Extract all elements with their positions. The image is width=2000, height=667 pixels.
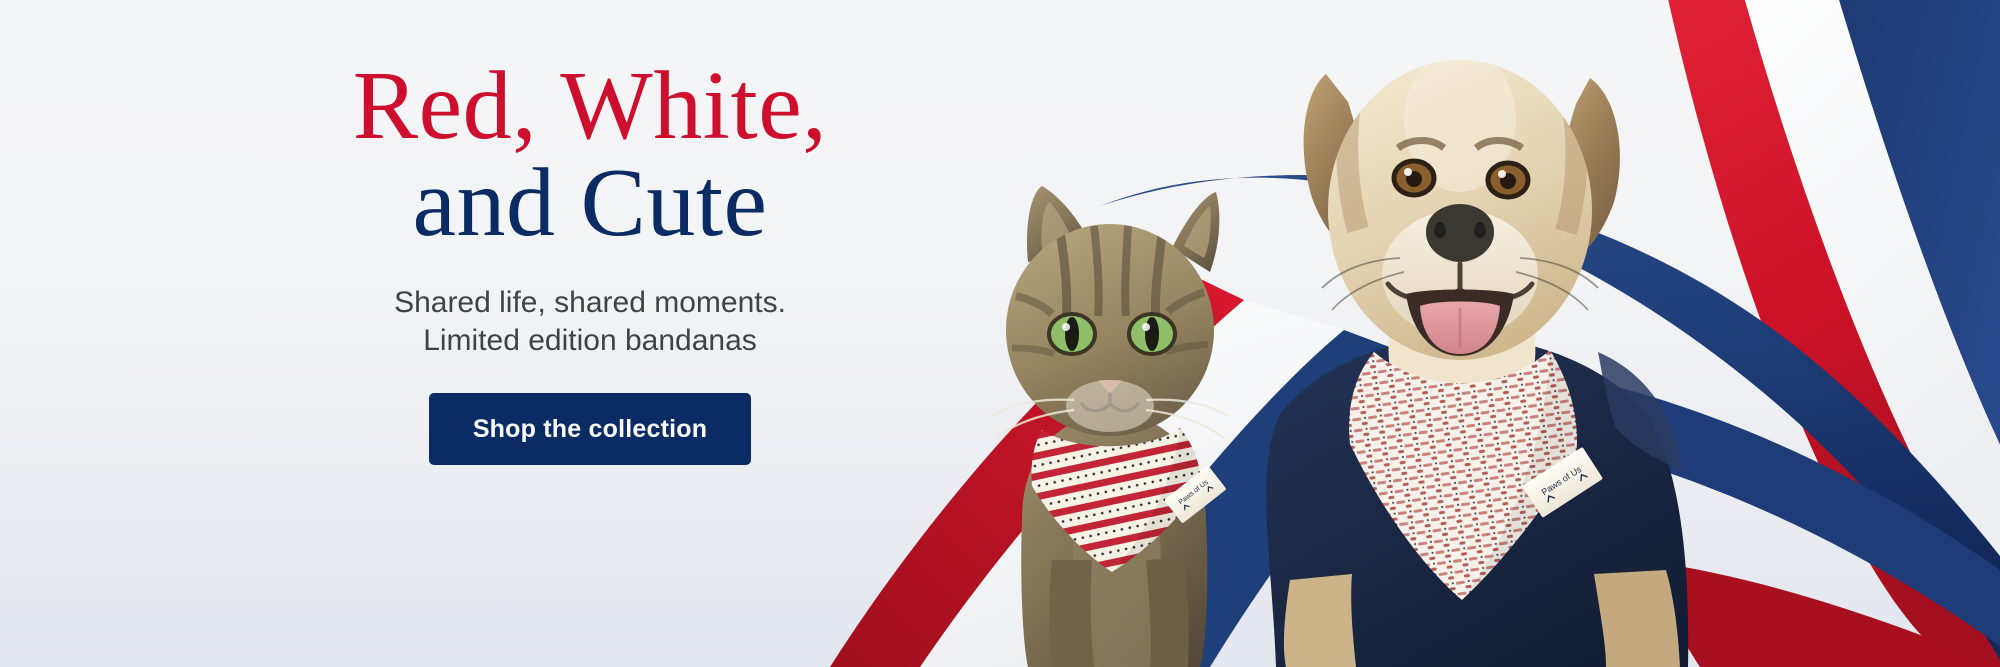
cat-leg-right [1146,558,1189,667]
dog-leg-left [1284,574,1356,667]
dog-subject: Paws of Us [1266,48,1688,667]
dog-eye-right [1488,163,1528,197]
subtitle-line-1: Shared life, shared moments. [210,284,970,322]
page-title: Red, White, and Cute [210,58,970,252]
dog-leg-right [1594,570,1680,667]
cat-eye-left [1049,314,1095,354]
cat-leg-left [1049,560,1094,667]
cat-subject: Paws of Us [992,186,1228,667]
shop-the-collection-button[interactable]: Shop the collection [429,393,751,465]
cat-muzzle [1066,380,1154,432]
headline-line-1: Red, White, [210,58,970,155]
subtitle-line-2: Limited edition bandanas [210,322,970,360]
cat-eye-right [1129,314,1175,354]
promo-subtitle: Shared life, shared moments. Limited edi… [210,284,970,361]
promo-banner: Paws of Us [0,0,2000,667]
dog-eye-left [1394,161,1434,195]
promo-copy-block: Red, White, and Cute Shared life, shared… [210,58,970,465]
headline-line-2: and Cute [210,155,970,252]
